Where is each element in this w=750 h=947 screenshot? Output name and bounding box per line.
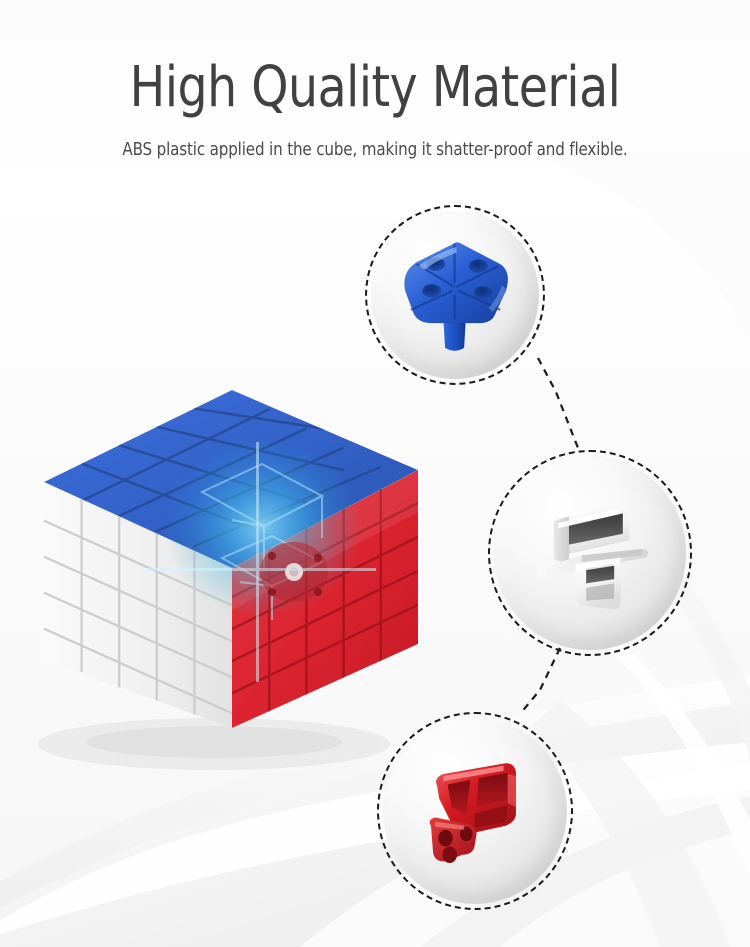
headline-block: High Quality Material ABS plastic applie… (0, 58, 750, 160)
blue-core-illustration (388, 228, 521, 361)
white-edge-illustration (515, 477, 666, 629)
corner-hole-3 (443, 846, 458, 863)
red-corner-illustration (402, 738, 547, 885)
callout-core-piece[interactable] (365, 205, 545, 385)
blue-core-part-image (388, 228, 521, 361)
callout-corner-piece[interactable] (377, 712, 573, 910)
page-subtitle: ABS plastic applied in the cube, making … (15, 140, 735, 160)
speed-cube-image (26, 372, 436, 752)
core-boss-2 (469, 260, 488, 273)
corner-hole-1 (439, 830, 454, 847)
product-feature-banner: High Quality Material ABS plastic applie… (0, 0, 750, 947)
cube-illustration (26, 372, 436, 752)
core-boss-3 (423, 285, 442, 298)
white-edge-part-image (515, 477, 666, 629)
cube-center-screw (260, 542, 328, 602)
core-boss-4 (474, 286, 493, 299)
callout-edge-piece[interactable] (488, 450, 692, 656)
page-title: High Quality Material (23, 58, 728, 118)
red-corner-part-image (402, 738, 547, 885)
